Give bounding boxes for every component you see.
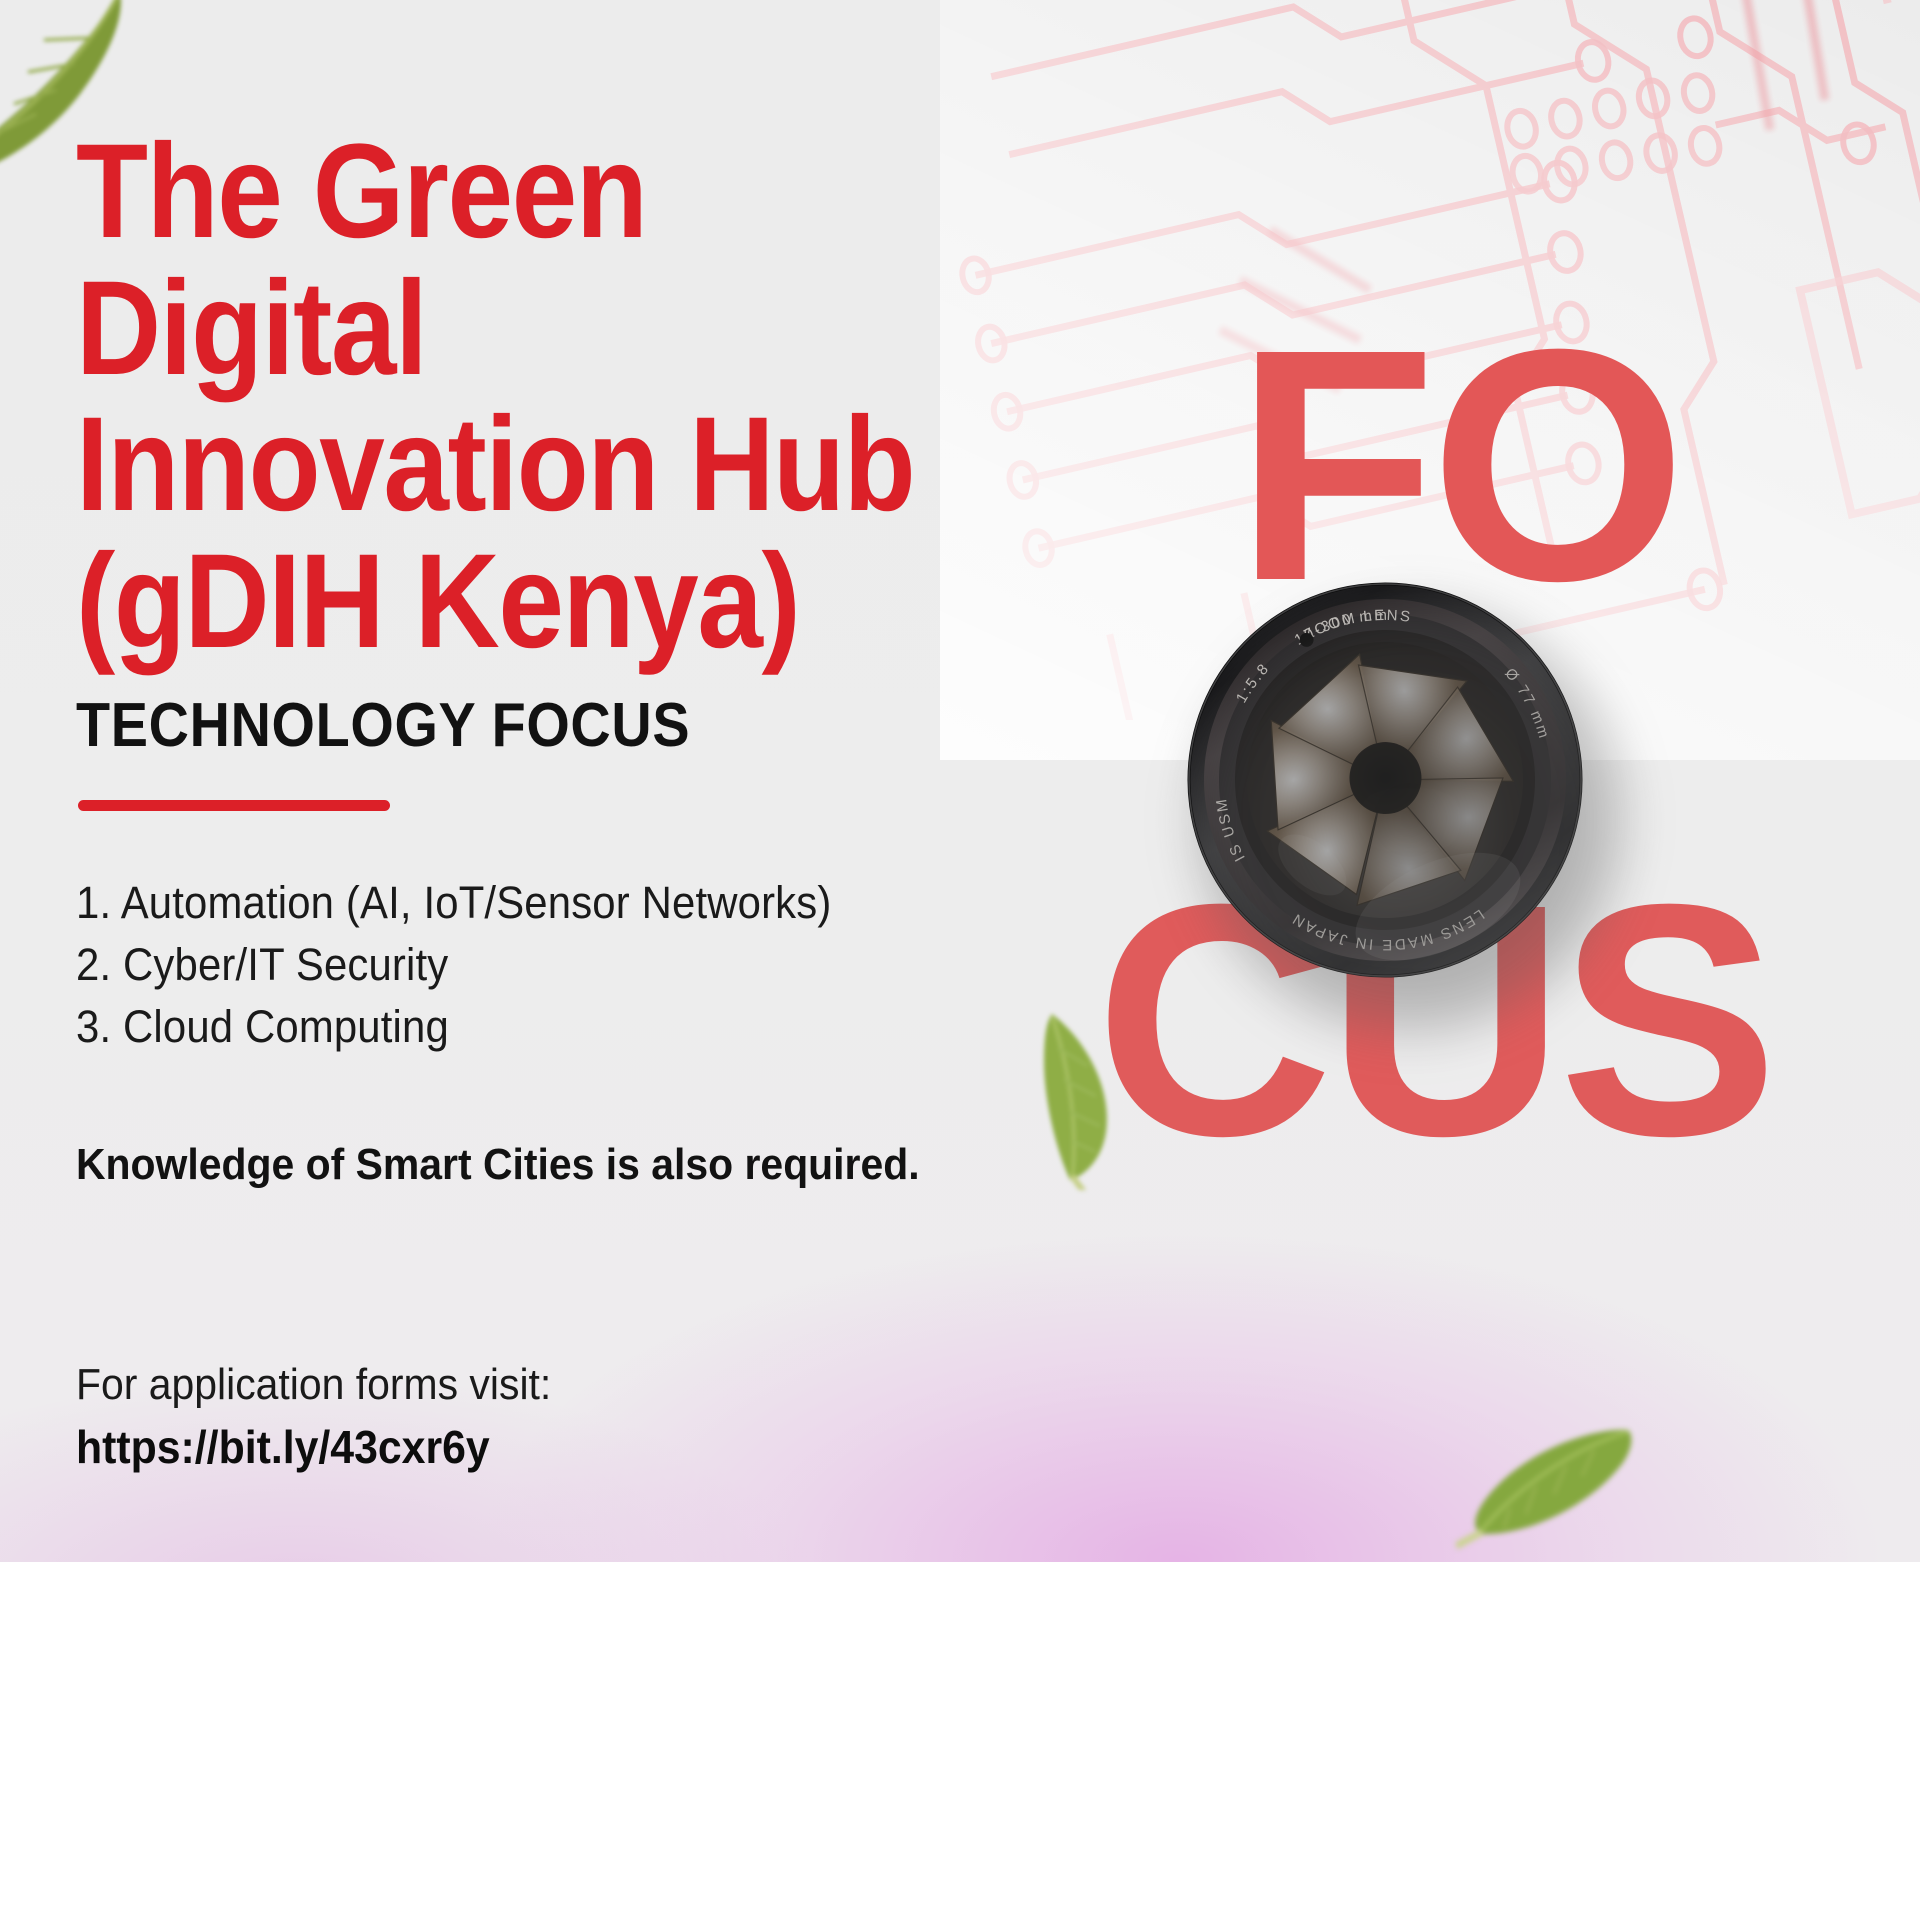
tech-focus-list: 1. Automation (AI, IoT/Sensor Networks) … [76, 872, 913, 1058]
apply-url-link[interactable]: https://bit.ly/43cxr6y [76, 1420, 490, 1474]
list-item: 1. Automation (AI, IoT/Sensor Networks) [76, 872, 913, 934]
requirement-note: Knowledge of Smart Cities is also requir… [76, 1140, 920, 1190]
apply-label: For application forms visit: [76, 1360, 551, 1410]
list-item: 3. Cloud Computing [76, 996, 913, 1058]
poster-canvas: FO CUS [0, 0, 1920, 1920]
headline-line-3: (gDIH Kenya) [76, 534, 938, 671]
headline-line-2: Innovation Hub [76, 397, 938, 534]
subheading: TECHNOLOGY FOCUS [76, 690, 690, 761]
camera-lens-graphic: LENS MADE IN JAPAN IS USM 1:5.8 10-300 m… [1135, 530, 1635, 1030]
footer-logo-bar: german cooperation DEUTSCHE ZUSAMMENARBE… [0, 1562, 1920, 1920]
page-title: The Green Digital Innovation Hub (gDIH K… [76, 124, 938, 671]
lens-drop-shadow [1175, 585, 1645, 1055]
main-panel: FO CUS [0, 0, 1920, 1562]
leaf-icon-bottom-right [1456, 1420, 1646, 1550]
headline-line-1: The Green Digital [76, 124, 938, 397]
list-item: 2. Cyber/IT Security [76, 934, 913, 996]
accent-rule [78, 800, 390, 811]
